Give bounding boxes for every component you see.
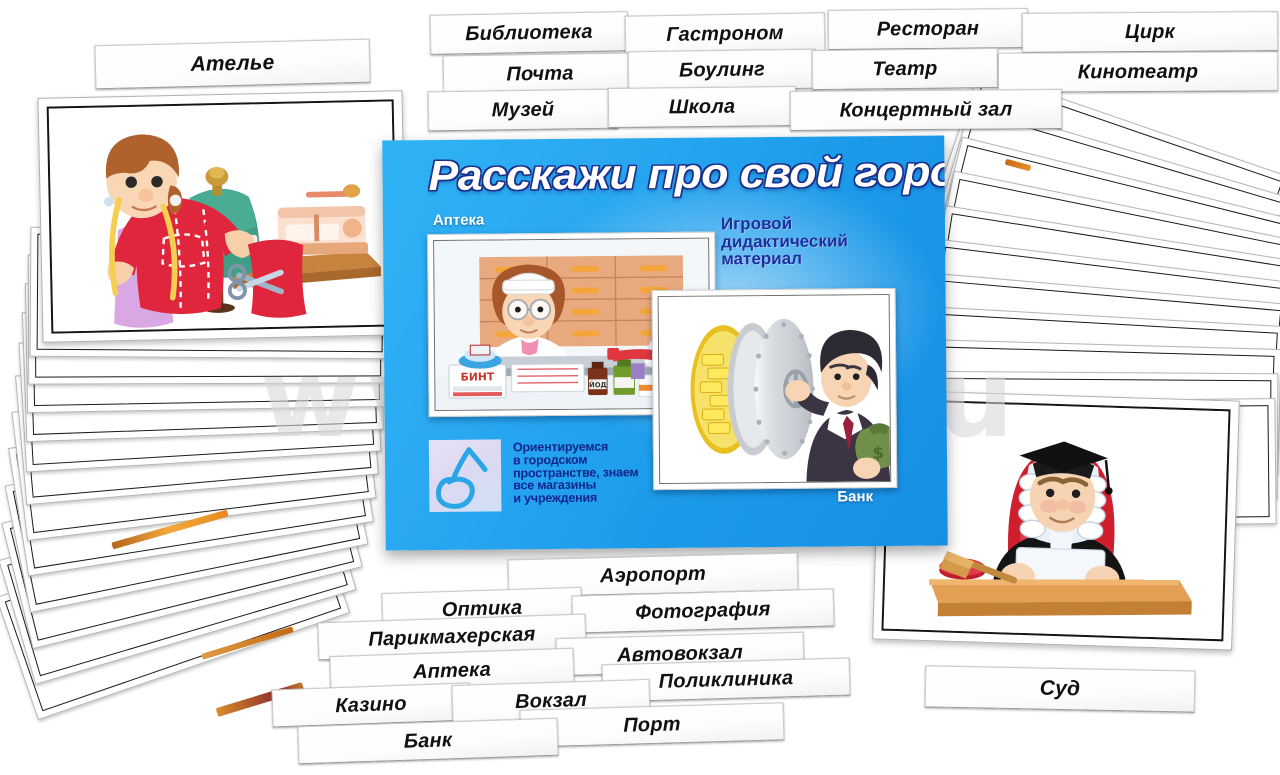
label-card-text: Фотография [635,598,771,625]
product-box[interactable]: Расскажи про свой город Аптека [382,136,948,551]
product-subtitle: Игровой дидактический материал [721,214,848,268]
label-card-text: Кинотеатр [1078,60,1199,84]
label-card-photography[interactable]: Фотография [572,588,835,633]
label-card-text: Аэропорт [600,562,706,588]
label-card-museum[interactable]: Музей [428,89,619,132]
publisher-logo [429,439,502,512]
label-card-text: Поликлиника [658,667,793,694]
svg-text:БИНТ: БИНТ [461,370,495,383]
label-card-court[interactable]: Суд [925,665,1196,712]
label-card-text: Музей [492,98,555,122]
label-card-text: Школа [669,95,736,119]
label-card-library[interactable]: Библиотека [430,11,629,55]
picture-card-tailor-frame [47,99,399,333]
label-card-text: Суд [1040,677,1081,702]
tailor-illustration [49,101,397,331]
label-card-text: Ателье [190,51,274,77]
label-card-text: Парикмахерская [368,623,536,652]
label-card-text: Концертный зал [839,98,1012,122]
label-card-text: Ресторан [877,17,980,41]
label-card-circus[interactable]: Цирк [1022,11,1278,53]
label-card-bank[interactable]: Банк [297,718,558,765]
photo-bank-inner: $ [658,294,892,484]
label-card-text: Банк [403,729,452,754]
caption-pharmacy: Аптека [433,212,485,229]
label-card-text: Казино [335,692,407,717]
product-subtitle-line: материал [721,250,848,269]
caption-bank: Банк [837,488,873,505]
label-card-school[interactable]: Школа [608,86,796,128]
label-card-port[interactable]: Порт [520,702,785,747]
label-card-text: Гастроном [666,21,784,46]
label-card-atelier[interactable]: Ателье [95,39,371,90]
label-card-text: Цирк [1125,20,1175,43]
label-card-text: Порт [623,713,681,738]
label-card-cinema[interactable]: Кинотеатр [998,51,1278,92]
label-card-restaurant[interactable]: Ресторан [828,8,1028,50]
product-subtitle-line: дидактический [721,232,848,251]
label-card-concert-hall[interactable]: Концертный зал [790,89,1062,131]
svg-text:ЙОД: ЙОД [589,380,607,389]
label-card-text: Боулинг [679,58,765,82]
logo-letter-mark [429,439,502,512]
label-card-text: Библиотека [465,20,593,45]
product-subtitle-line: Игровой [721,214,848,233]
label-card-text: Аптека [413,658,492,684]
product-photo-scene: Ателье [0,0,1280,775]
label-card-theatre[interactable]: Театр [812,48,998,90]
label-card-text: Театр [872,57,937,81]
photo-bank: $ [652,288,898,490]
label-card-bowling[interactable]: Боулинг [628,49,817,92]
product-title: Расскажи про свой город [428,147,947,200]
product-tagline: Ориентируемся в городском пространстве, … [513,440,639,505]
product-tagline-line: и учреждения [513,491,638,505]
label-card-text: Почта [506,62,574,86]
bank-vault-illustration: $ [659,295,891,483]
picture-card-tailor[interactable] [37,90,407,343]
